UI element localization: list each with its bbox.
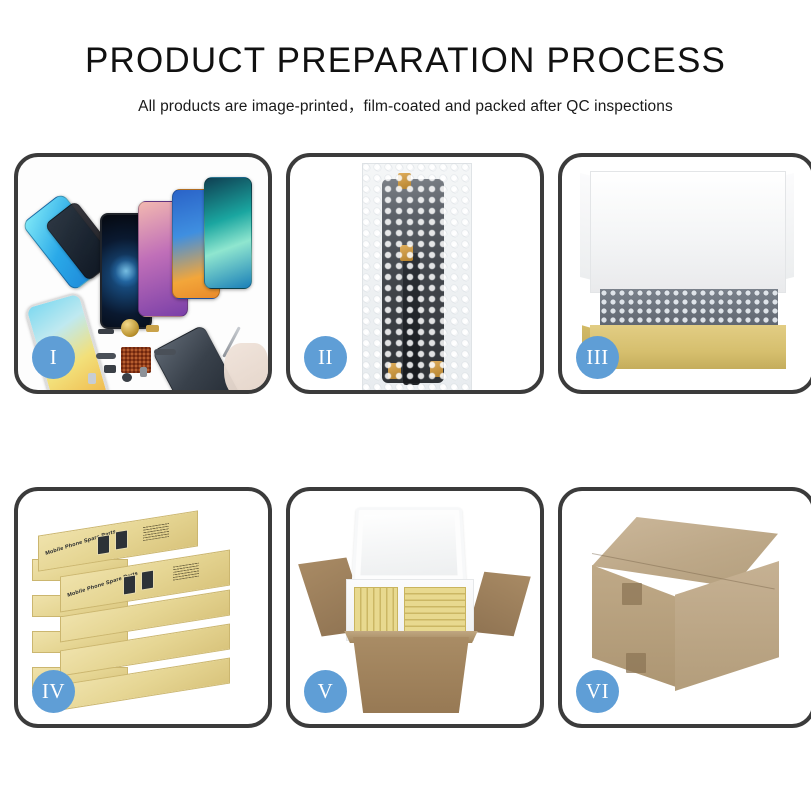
page-subtitle: All products are image-printed，film-coat… (0, 94, 811, 116)
sim-tray (88, 373, 96, 384)
process-step-panel-2: II (286, 153, 544, 394)
bubble-wrapped-contents (600, 289, 778, 329)
carton-body (348, 637, 474, 713)
gold-flex-connector (146, 325, 159, 332)
small-chip-2 (104, 365, 116, 373)
screen-flex-ribbon (403, 253, 420, 385)
process-step-panel-3: III (558, 153, 811, 394)
step-badge-6: VI (576, 670, 619, 713)
gold-boxes-group-left (354, 587, 398, 633)
step-badge-4: IV (32, 670, 75, 713)
box-phone-image-2 (115, 529, 128, 550)
gold-coil-component (121, 319, 139, 337)
process-step-panel-4: Mobile Phone Spare Parts Mobile Phone Sp… (14, 487, 272, 728)
page-header: PRODUCT PREPARATION PROCESS All products… (0, 0, 811, 116)
process-step-panel-5: V (286, 487, 544, 728)
process-steps-grid: I II (14, 153, 797, 728)
teal-display-phone (204, 177, 252, 289)
flex-cable-1 (96, 353, 116, 359)
battery-connector (140, 367, 147, 377)
step-badge-3: III (576, 336, 619, 379)
carton-tape-upper (622, 583, 642, 605)
process-step-panel-1: I (14, 153, 272, 394)
step-badge-5: V (304, 670, 347, 713)
mid-connector (400, 245, 413, 261)
gold-box-base (590, 325, 786, 369)
step-badge-2: II (304, 336, 347, 379)
top-connector (398, 173, 411, 189)
carton-tape-lower (626, 653, 646, 673)
speaker-component (122, 373, 132, 382)
process-step-panel-6: VI (558, 487, 811, 728)
page-title: PRODUCT PREPARATION PROCESS (0, 42, 811, 81)
bottom-connector-right (430, 361, 443, 377)
box-phone-image-1 (97, 534, 110, 555)
foam-lid (352, 507, 467, 583)
gold-boxes-group-right (404, 587, 466, 633)
carton-flap-right (467, 572, 531, 636)
small-chip-1 (98, 329, 114, 334)
white-box-lid (590, 171, 786, 293)
box-phone-image-4 (141, 570, 154, 591)
flex-cable-2 (154, 349, 176, 355)
step-badge-1: I (32, 336, 75, 379)
hand-holding-phone (224, 343, 268, 394)
box-phone-image-3 (123, 574, 136, 595)
bottom-connector-left (388, 363, 401, 379)
product-preparation-page: PRODUCT PREPARATION PROCESS All products… (0, 0, 811, 811)
